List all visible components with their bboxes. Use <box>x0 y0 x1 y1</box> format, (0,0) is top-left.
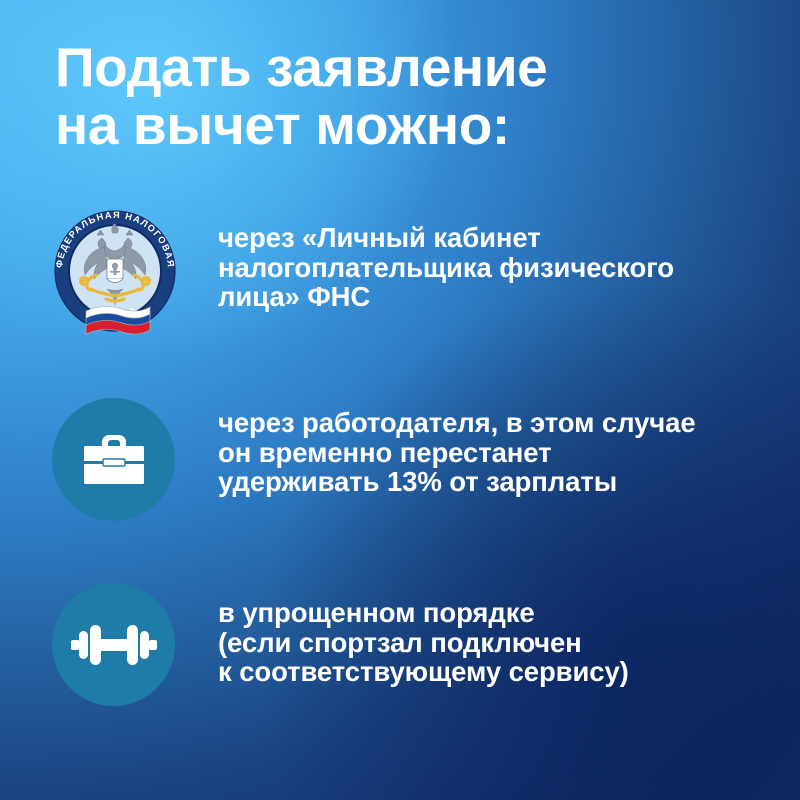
list-item: через работодателя, в этом случае он вре… <box>0 390 800 530</box>
list-item: ФЕДЕРАЛЬНАЯ НАЛОГОВАЯ СЛУЖБА <box>0 205 800 345</box>
list-item-text: в упрощенном порядке (если спортзал подк… <box>218 575 629 687</box>
icon-cell <box>0 575 218 715</box>
page-title: Подать заявление на вычет можно: <box>55 38 755 154</box>
fns-emblem-icon: ФЕДЕРАЛЬНАЯ НАЛОГОВАЯ СЛУЖБА <box>50 205 180 353</box>
poster-canvas: Подать заявление на вычет можно: <box>0 0 800 800</box>
dumbbell-icon <box>52 583 175 706</box>
list-item-text: через работодателя, в этом случае он вре… <box>218 390 696 497</box>
briefcase-icon <box>52 398 175 521</box>
icon-cell <box>0 390 218 530</box>
list-item: в упрощенном порядке (если спортзал подк… <box>0 575 800 715</box>
list-item-text: через «Личный кабинет налогоплательщика … <box>218 205 674 312</box>
icon-cell: ФЕДЕРАЛЬНАЯ НАЛОГОВАЯ СЛУЖБА <box>0 205 218 345</box>
